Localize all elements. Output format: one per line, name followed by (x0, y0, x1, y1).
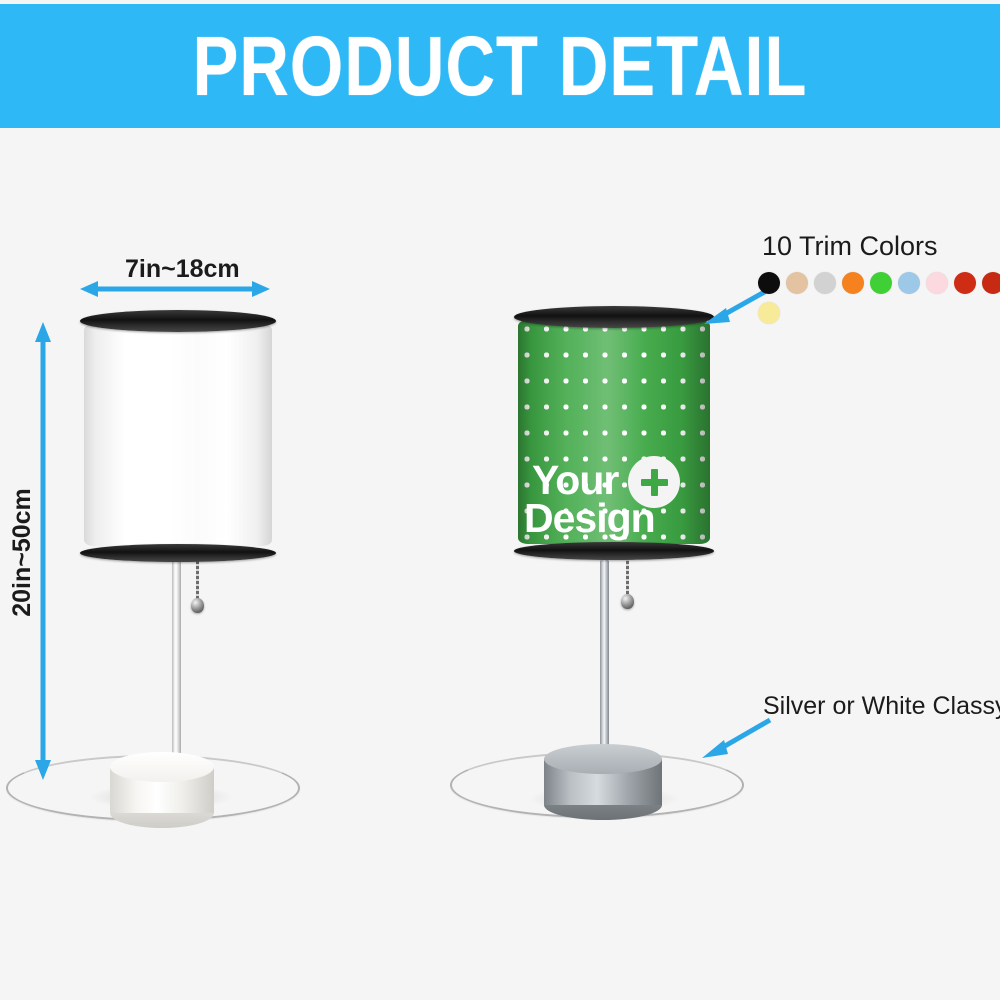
trim-swatch-black[interactable] (758, 272, 780, 294)
plus-icon (628, 456, 680, 508)
product-detail-stage: PRODUCT DETAIL 7in~18cm (0, 0, 1000, 1000)
trim-swatch-tan[interactable] (786, 272, 808, 294)
white-lamp-base (110, 752, 214, 828)
green-lamp-base (544, 744, 662, 822)
green-shade-top-trim (514, 306, 714, 328)
base-top-face (544, 744, 662, 774)
green-shade-bottom-trim (514, 542, 714, 560)
white-shade-surface (84, 324, 272, 546)
width-dimension-arrow (80, 278, 270, 300)
trim-swatch-dark-red[interactable] (982, 272, 1000, 294)
height-dimension-arrow (32, 322, 54, 780)
trim-swatch-light-blue[interactable] (898, 272, 920, 294)
trim-color-swatches[interactable] (758, 272, 1000, 324)
trim-swatch-light-gray[interactable] (814, 272, 836, 294)
base-top-face (110, 752, 214, 782)
header-banner: PRODUCT DETAIL (0, 4, 1000, 128)
green-lamp-shade: Your Design (518, 308, 710, 556)
trim-swatch-orange[interactable] (842, 272, 864, 294)
page-title: PRODUCT DETAIL (193, 24, 808, 108)
green-shade-surface: Your Design (518, 320, 710, 544)
trim-swatch-red[interactable] (954, 272, 976, 294)
trim-swatch-green[interactable] (870, 272, 892, 294)
base-finish-arrow (696, 714, 778, 760)
trim-swatch-pale-yellow[interactable] (758, 302, 780, 324)
white-shade-bottom-trim (80, 544, 276, 562)
green-lamp-pull-chain[interactable] (626, 556, 629, 598)
shade-gloss (84, 324, 272, 546)
green-lamp-pole (600, 560, 609, 758)
base-finish-label: Silver or White Classy (763, 692, 1000, 721)
white-lamp-pull-chain[interactable] (196, 556, 199, 602)
white-lamp-shade (84, 312, 272, 558)
trim-colors-title: 10 Trim Colors (762, 231, 938, 262)
artwork-line-2: Design (524, 498, 655, 539)
plus-icon-vertical-bar (651, 469, 658, 496)
white-shade-top-trim (80, 310, 276, 332)
trim-swatch-pink[interactable] (926, 272, 948, 294)
white-lamp-pole (172, 556, 181, 768)
green-lamp-pull-chain-ball[interactable] (621, 594, 634, 609)
white-lamp-pull-chain-ball[interactable] (191, 598, 204, 613)
